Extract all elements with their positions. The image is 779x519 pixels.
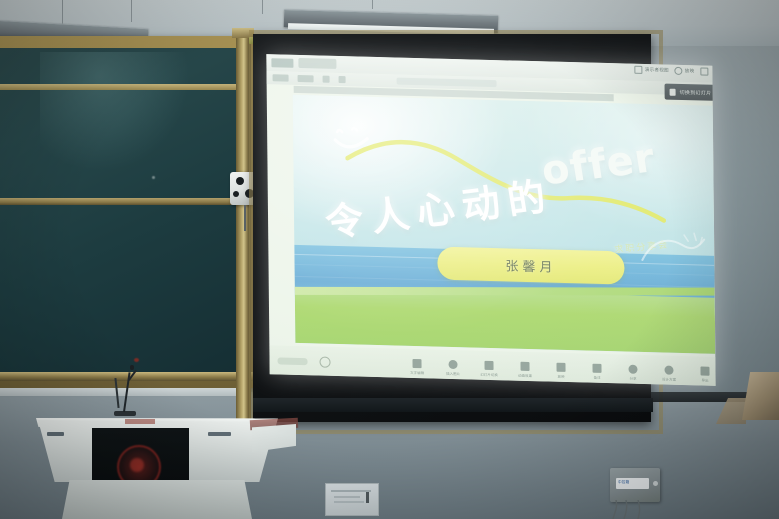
design-icon: [664, 366, 673, 375]
light-wire: [131, 0, 132, 22]
notice-text-line: [331, 490, 371, 492]
tool-notes[interactable]: 备注: [587, 364, 606, 381]
blackboard-mark: [134, 358, 139, 362]
tool-text-edit[interactable]: 文字编辑: [407, 359, 426, 376]
animation-icon: [520, 362, 529, 371]
play-label: 放映: [685, 68, 695, 74]
slide-shore-edge: [295, 287, 715, 296]
tool-present[interactable]: 放映: [551, 363, 570, 380]
switch-icon: [670, 88, 676, 95]
tool-label: 备注: [594, 375, 601, 380]
tool-label: 动画效果: [518, 373, 532, 378]
wall-notice-frame: [325, 483, 379, 516]
tool-label: 放映: [558, 374, 565, 379]
tool-transition[interactable]: 幻灯片切换: [479, 361, 498, 378]
slide-counter: [278, 357, 308, 365]
microphone-head: [130, 365, 134, 370]
slide-canvas: 令人心动的 offer 求职分享会 张馨月: [293, 95, 716, 354]
notes-icon: [592, 364, 601, 373]
bottom-toolbar-left: [277, 355, 330, 367]
transition-icon: [484, 361, 493, 370]
play-button[interactable]: 放映: [675, 67, 695, 76]
control-box-label-text: 中控箱: [618, 480, 629, 484]
share-icon: [628, 365, 637, 374]
blackboard-middle-rail: [0, 198, 248, 205]
presenter-view-button[interactable]: 演示者视图: [635, 66, 669, 75]
tool-label: 幻灯片切换: [480, 372, 498, 377]
redo-icon[interactable]: [323, 76, 330, 83]
slide-title-group: 令人心动的 offer 求职分享会: [317, 131, 698, 241]
light-wire: [262, 0, 263, 14]
notice-text-line: [334, 501, 364, 503]
blackboard-top-rail: [0, 84, 248, 90]
tool-share[interactable]: 分享: [623, 364, 642, 381]
tool-label: 插入图片: [446, 371, 460, 376]
podium-red-accent: [125, 419, 155, 424]
sensor-cable: [244, 205, 246, 231]
app-titlebar-left: [271, 57, 336, 69]
presenter-view-label: 演示者视图: [645, 67, 669, 74]
sensor-lens-icon: [233, 191, 239, 197]
notice-text-line: [334, 496, 360, 498]
classroom-scene: 演示者视图 放映 切换到幻灯片: [0, 0, 779, 519]
slide-title-english: offer: [538, 135, 658, 195]
close-icon[interactable]: [700, 67, 708, 75]
presentation-app-window: 演示者视图 放映 切换到幻灯片: [266, 54, 715, 386]
screen-bottom-rail: [253, 398, 653, 412]
switch-slide-button[interactable]: 切换到幻灯片: [665, 84, 716, 102]
presenter-name: 张馨月: [505, 255, 556, 275]
tool-insert-image[interactable]: 插入图片: [443, 360, 462, 377]
tool-animation[interactable]: 动画效果: [515, 362, 534, 379]
presenter-view-icon: [635, 66, 643, 74]
save-icon[interactable]: [273, 74, 289, 81]
undo-icon[interactable]: [298, 75, 314, 82]
tool-label: 分享: [630, 376, 637, 381]
print-icon[interactable]: [339, 76, 346, 83]
school-emblem-center: [130, 458, 144, 472]
light-wire: [372, 0, 373, 9]
tool-label: 设计方案: [662, 376, 676, 381]
presenter-name-banner: 张馨月: [437, 247, 624, 285]
podium-label-left: [47, 432, 64, 436]
switch-slide-label: 切换到幻灯片: [680, 88, 712, 96]
export-icon: [700, 366, 709, 375]
tool-export[interactable]: 导出: [695, 366, 714, 383]
document-tab[interactable]: [298, 58, 336, 69]
tool-label: 文字编辑: [410, 370, 424, 375]
tool-design[interactable]: 设计方案: [659, 365, 678, 382]
light-wire: [62, 0, 63, 26]
wall-skirting: [0, 388, 248, 396]
sensor-lens-icon: [236, 177, 244, 185]
refresh-icon[interactable]: [319, 357, 330, 368]
present-icon: [556, 363, 565, 372]
tool-label: 导出: [702, 378, 709, 383]
control-box-knob[interactable]: [653, 481, 658, 486]
blackboard-mark: [152, 176, 155, 179]
control-box-wires: [612, 500, 656, 519]
notice-clip: [366, 492, 369, 503]
text-icon: [412, 359, 421, 368]
play-icon: [675, 67, 683, 75]
wave-doodle-icon: [638, 230, 708, 270]
blackboard-light-reflection: [40, 52, 190, 172]
slide-grass-band: [295, 287, 716, 354]
wps-logo-icon: [271, 58, 293, 68]
podium-base: [62, 480, 252, 519]
image-icon: [448, 360, 457, 369]
podium-label-right: [208, 432, 231, 436]
